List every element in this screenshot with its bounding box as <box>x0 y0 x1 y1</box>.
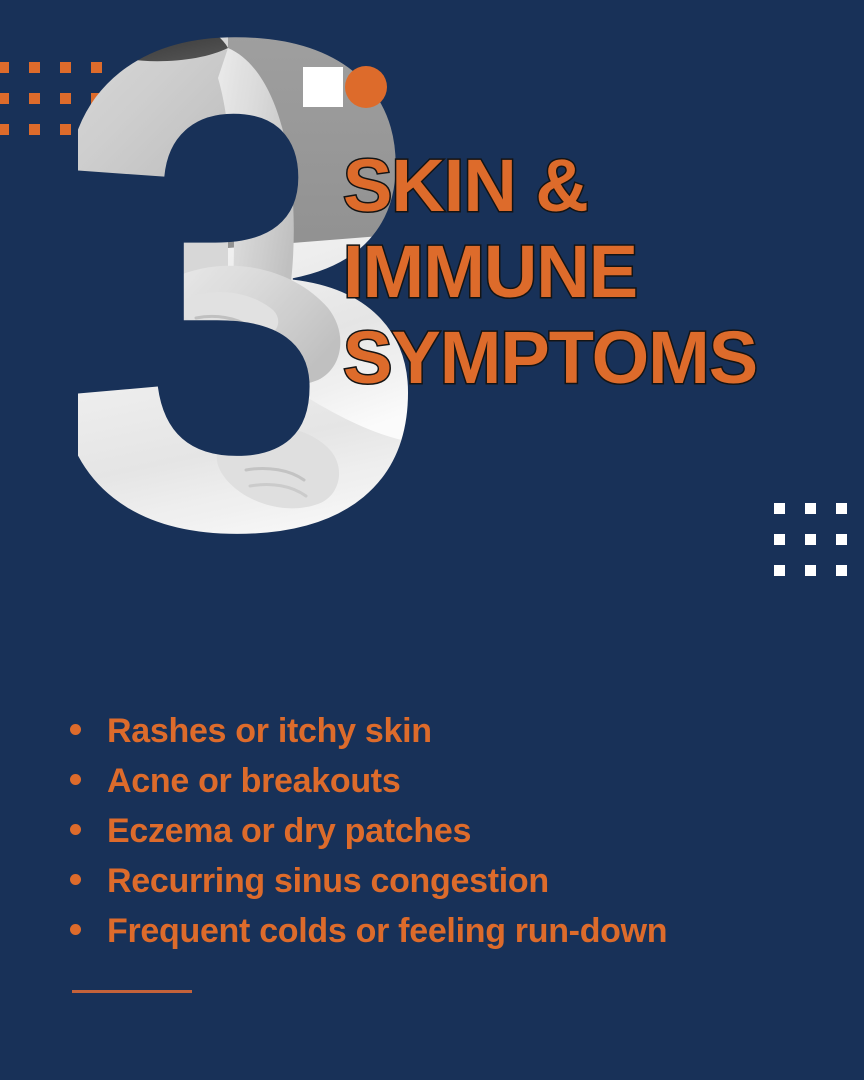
symptom-list: Rashes or itchy skin Acne or breakouts E… <box>70 706 667 956</box>
bottom-divider-rule <box>72 990 192 993</box>
list-item: Rashes or itchy skin <box>70 706 667 756</box>
dot-square <box>60 93 71 104</box>
dot-square <box>805 565 816 576</box>
dot-square <box>0 93 9 104</box>
list-item: Acne or breakouts <box>70 756 667 806</box>
list-item: Recurring sinus congestion <box>70 856 667 906</box>
list-item: Frequent colds or feeling run-down <box>70 906 667 956</box>
list-item: Eczema or dry patches <box>70 806 667 856</box>
dot-grid-right <box>774 503 864 576</box>
dot-square <box>836 534 847 545</box>
dot-square <box>805 534 816 545</box>
dot-square <box>774 534 785 545</box>
dot-square <box>29 124 40 135</box>
dot-square <box>774 503 785 514</box>
bullet-dot-icon <box>70 924 81 935</box>
dot-square <box>0 62 9 73</box>
white-square-accent <box>303 67 343 107</box>
orange-circle-accent <box>345 66 387 108</box>
headline: SKIN & IMMUNE SYMPTOMS <box>343 143 843 401</box>
headline-line-2: IMMUNE <box>343 229 843 315</box>
dot-square <box>774 565 785 576</box>
dot-square <box>0 124 9 135</box>
symptom-label: Eczema or dry patches <box>107 806 471 856</box>
bullet-dot-icon <box>70 774 81 785</box>
dot-square <box>60 124 71 135</box>
dot-square <box>836 503 847 514</box>
dot-square <box>805 503 816 514</box>
dot-square <box>60 62 71 73</box>
dot-square <box>29 62 40 73</box>
dot-square <box>836 565 847 576</box>
bullet-dot-icon <box>70 824 81 835</box>
bullet-dot-icon <box>70 874 81 885</box>
headline-line-1: SKIN & <box>343 143 843 229</box>
symptom-label: Acne or breakouts <box>107 756 400 806</box>
symptom-label: Rashes or itchy skin <box>107 706 432 756</box>
bullet-dot-icon <box>70 724 81 735</box>
symptom-label: Frequent colds or feeling run-down <box>107 906 667 956</box>
poster-canvas: 3 <box>0 0 864 1080</box>
symptom-label: Recurring sinus congestion <box>107 856 549 906</box>
headline-line-3: SYMPTOMS <box>343 315 843 401</box>
dot-square <box>29 93 40 104</box>
